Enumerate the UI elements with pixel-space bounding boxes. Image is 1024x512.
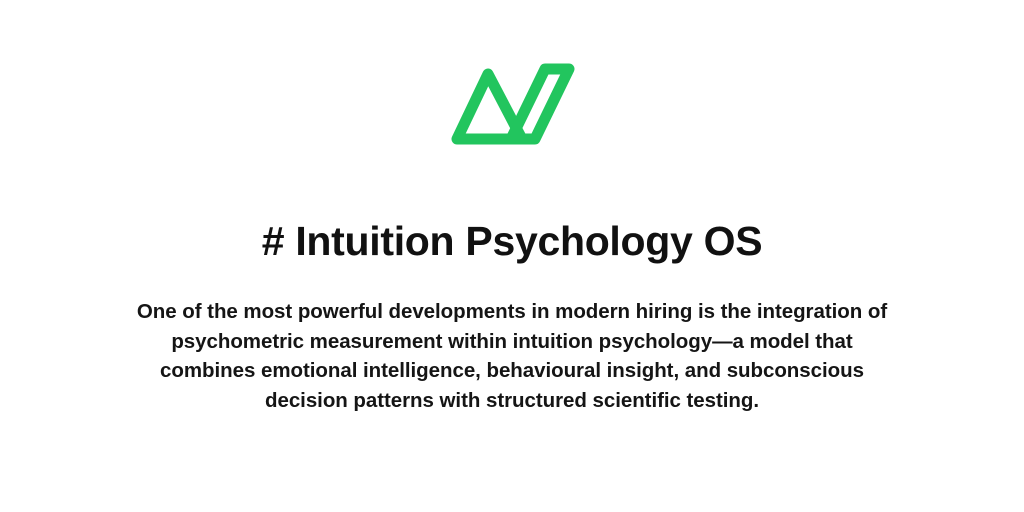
n-monogram-icon [447,58,577,150]
page-description: One of the most powerful developments in… [131,297,893,415]
logo [442,56,582,152]
slide-root: # Intuition Psychology OS One of the mos… [0,0,1024,512]
page-title: # Intuition Psychology OS [262,218,763,265]
